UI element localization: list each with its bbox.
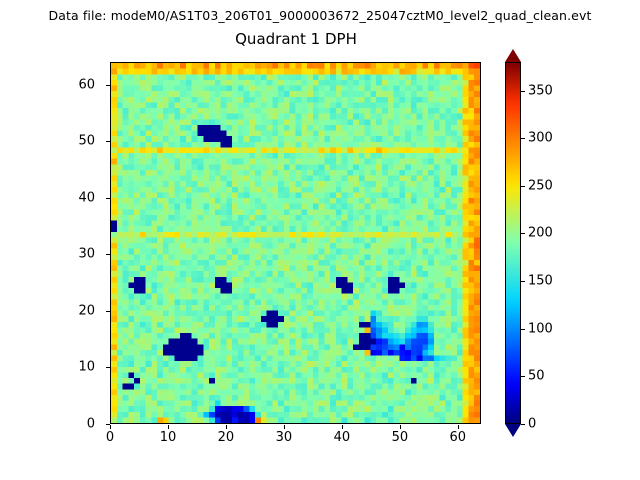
- colorbar-tick-mark: [521, 376, 525, 377]
- x-tick-mark: [400, 425, 401, 429]
- colorbar-tick-mark: [521, 424, 525, 425]
- x-tick-mark: [458, 425, 459, 429]
- colorbar-tick-mark: [521, 186, 525, 187]
- x-tick-mark: [342, 425, 343, 429]
- figure-canvas: Data file: modeM0/AS1T03_206T01_90000036…: [0, 0, 640, 480]
- y-tick-mark: [106, 85, 110, 86]
- colorbar-under-arrow-icon: [505, 424, 521, 437]
- colorbar-gradient: [505, 62, 521, 424]
- y-tick-mark: [106, 254, 110, 255]
- y-tick-mark: [106, 198, 110, 199]
- x-tick-mark: [284, 425, 285, 429]
- colorbar-tick-label: 50: [528, 369, 545, 384]
- y-tick-mark: [106, 367, 110, 368]
- y-tick-label: 50: [35, 134, 95, 149]
- x-tick-label: 40: [312, 430, 372, 445]
- y-tick-label: 60: [35, 77, 95, 92]
- colorbar: [505, 62, 521, 424]
- x-tick-mark: [110, 425, 111, 429]
- page-title: Quadrant 1 DPH: [110, 30, 482, 48]
- y-tick-mark: [106, 311, 110, 312]
- x-tick-mark: [168, 425, 169, 429]
- x-tick-label: 50: [370, 430, 430, 445]
- y-tick-label: 20: [35, 303, 95, 318]
- x-tick-label: 20: [196, 430, 256, 445]
- colorbar-tick-label: 200: [528, 226, 553, 241]
- y-tick-label: 30: [35, 247, 95, 262]
- x-tick-label: 30: [254, 430, 314, 445]
- colorbar-tick-label: 250: [528, 178, 553, 193]
- dph-heatmap-image: [111, 63, 480, 423]
- x-tick-label: 0: [80, 430, 140, 445]
- data-file-label: Data file: modeM0/AS1T03_206T01_90000036…: [0, 8, 640, 23]
- colorbar-tick-label: 0: [528, 417, 536, 432]
- colorbar-tick-label: 350: [528, 83, 553, 98]
- y-tick-mark: [106, 141, 110, 142]
- colorbar-tick-label: 150: [528, 274, 553, 289]
- colorbar-tick-mark: [521, 281, 525, 282]
- colorbar-over-arrow-icon: [505, 49, 521, 62]
- colorbar-tick-mark: [521, 138, 525, 139]
- x-tick-mark: [226, 425, 227, 429]
- x-tick-label: 10: [138, 430, 198, 445]
- colorbar-tick-mark: [521, 329, 525, 330]
- x-tick-label: 60: [428, 430, 488, 445]
- y-tick-label: 10: [35, 360, 95, 375]
- colorbar-tick-mark: [521, 91, 525, 92]
- colorbar-tick-label: 100: [528, 321, 553, 336]
- heatmap-axes: [110, 62, 481, 424]
- colorbar-tick-mark: [521, 233, 525, 234]
- y-tick-label: 40: [35, 190, 95, 205]
- colorbar-tick-label: 300: [528, 131, 553, 146]
